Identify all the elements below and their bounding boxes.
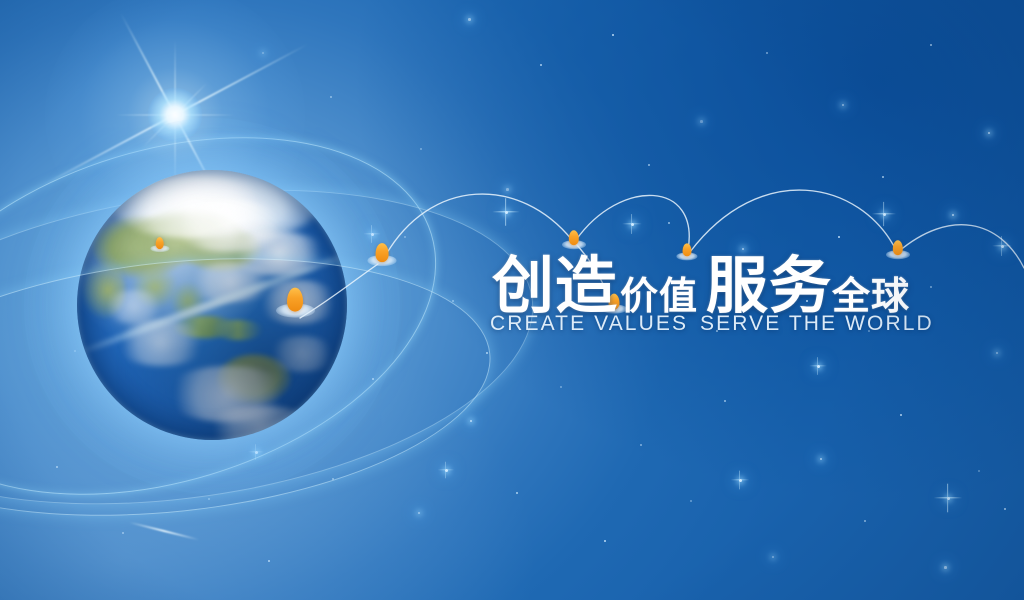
banner-hero: 创造 价值 CREATE VALUES 服务 全球 SERVE THE WORL… <box>0 0 1024 600</box>
vignette-overlay <box>0 0 1024 600</box>
